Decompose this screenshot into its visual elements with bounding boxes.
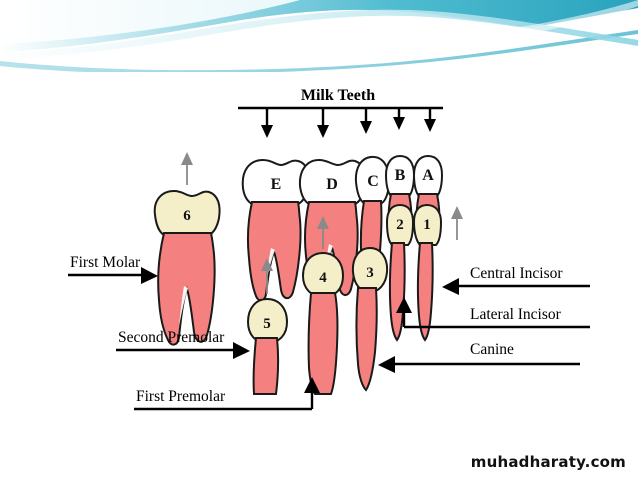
milk-tooth-label-D: D	[326, 176, 338, 193]
milk-tooth-E: E	[243, 160, 309, 300]
callout-label-second-premolar: Second Premolar	[118, 329, 225, 346]
down-arrow-D	[317, 108, 329, 138]
callout-canine: Canine	[378, 341, 580, 373]
site-watermark: muhadharaty.com	[471, 453, 626, 471]
down-arrow-group	[261, 108, 436, 138]
up-arrow-tooth-6	[181, 152, 193, 185]
permanent-tooth-label-1: 1	[423, 217, 431, 233]
callout-label-lateral-incisor: Lateral Incisor	[470, 306, 562, 323]
permanent-tooth-5: 5	[248, 299, 287, 394]
permanent-tooth-label-2: 2	[396, 217, 404, 233]
callout-first-premolar: First Premolar	[134, 377, 320, 409]
permanent-tooth-label-6: 6	[183, 208, 191, 224]
diagram-title: Milk Teeth	[301, 87, 375, 104]
permanent-tooth-label-5: 5	[263, 316, 271, 332]
permanent-tooth-1: 1	[414, 205, 441, 340]
permanent-tooth-label-3: 3	[366, 265, 374, 281]
permanent-tooth-2: 2	[387, 205, 413, 340]
down-arrow-E	[261, 108, 273, 138]
permanent-tooth-3: 3	[353, 248, 387, 390]
permanent-tooth-label-4: 4	[319, 270, 327, 286]
tooth-eruption-diagram: Milk Teeth E D C	[0, 72, 638, 432]
down-arrow-B	[393, 108, 405, 130]
milk-tooth-label-E: E	[271, 176, 282, 193]
down-arrow-C	[360, 108, 372, 134]
permanent-tooth-4: 4	[303, 253, 343, 394]
milk-tooth-label-A: A	[422, 167, 434, 184]
callout-label-first-molar: First Molar	[70, 254, 141, 271]
callout-label-central-incisor: Central Incisor	[470, 265, 563, 282]
milk-tooth-label-B: B	[395, 167, 406, 184]
callout-first-molar: First Molar	[68, 254, 158, 284]
permanent-tooth-6: 6	[155, 191, 220, 345]
callout-label-canine: Canine	[470, 341, 514, 358]
up-arrow-tooth-1	[451, 206, 463, 240]
callout-second-premolar: Second Premolar	[116, 329, 250, 359]
slide-canvas: Milk Teeth E D C	[0, 0, 638, 479]
callout-central-incisor: Central Incisor	[442, 265, 590, 295]
down-arrow-A	[424, 108, 436, 132]
decorative-wave-banner	[0, 0, 638, 72]
milk-tooth-label-C: C	[367, 173, 379, 190]
callout-label-first-premolar: First Premolar	[136, 388, 226, 405]
